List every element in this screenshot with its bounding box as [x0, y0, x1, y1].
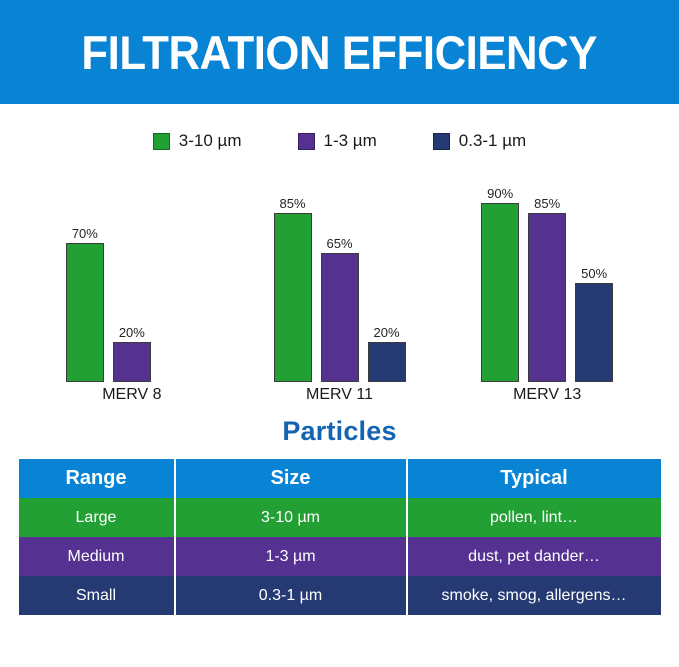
legend-item-3-10um: 3-10 µm	[153, 131, 242, 151]
table-header-row: Range Size Typical	[19, 459, 661, 498]
particles-table: Range Size Typical Large 3-10 µm pollen,…	[19, 459, 661, 615]
bar-value-merv13-0-3-1um: 50%	[581, 267, 607, 280]
bar-value-merv13-3-10um: 90%	[487, 187, 513, 200]
chart-plot-area: 70% 20% 85% 65% 20%	[28, 164, 651, 382]
bar-value-merv13-1-3um: 85%	[534, 197, 560, 210]
bar-value-merv11-3-10um: 85%	[279, 197, 305, 210]
bar-merv13-1-3um	[528, 213, 566, 382]
bar-group-merv-8: 70% 20%	[28, 164, 236, 382]
category-label-merv-8: MERV 8	[28, 386, 236, 404]
bar-slot-merv11-0-3-1um: 20%	[368, 164, 406, 382]
legend-swatch-navy-icon	[433, 133, 450, 150]
bar-slot-merv13-3-10um: 90%	[481, 164, 519, 382]
bar-slot-merv8-1-3um: 20%	[113, 164, 151, 382]
bar-merv11-0-3-1um	[368, 342, 406, 382]
cell-typical-medium: dust, pet dander…	[407, 537, 661, 576]
filtration-efficiency-bar-chart: 70% 20% 85% 65% 20%	[0, 164, 679, 414]
column-header-range: Range	[19, 459, 175, 498]
cell-range-medium: Medium	[19, 537, 175, 576]
bar-slot-merv8-3-10um: 70%	[66, 164, 104, 382]
particles-section-title: Particles	[0, 416, 679, 447]
bar-slot-merv11-1-3um: 65%	[321, 164, 359, 382]
cell-typical-small: smoke, smog, allergens…	[407, 576, 661, 615]
bar-merv11-3-10um	[274, 213, 312, 382]
bar-value-merv11-1-3um: 65%	[326, 237, 352, 250]
bar-slot-merv8-0-3-1um	[160, 164, 198, 382]
cell-size-large: 3-10 µm	[175, 498, 407, 537]
column-header-size: Size	[175, 459, 407, 498]
page-title: FILTRATION EFFICIENCY	[82, 25, 598, 80]
legend-swatch-purple-icon	[298, 133, 315, 150]
bar-value-merv8-3-10um: 70%	[72, 227, 98, 240]
chart-legend: 3-10 µm 1-3 µm 0.3-1 µm	[0, 128, 679, 154]
cell-range-small: Small	[19, 576, 175, 615]
bar-slot-merv13-1-3um: 85%	[528, 164, 566, 382]
cell-range-large: Large	[19, 498, 175, 537]
bar-merv8-1-3um	[113, 342, 151, 382]
legend-swatch-green-icon	[153, 133, 170, 150]
legend-label-1-3um: 1-3 µm	[324, 131, 377, 151]
bar-merv13-3-10um	[481, 203, 519, 382]
cell-size-small: 0.3-1 µm	[175, 576, 407, 615]
table-row: Large 3-10 µm pollen, lint…	[19, 498, 661, 537]
cell-typical-large: pollen, lint…	[407, 498, 661, 537]
column-header-typical: Typical	[407, 459, 661, 498]
cell-size-medium: 1-3 µm	[175, 537, 407, 576]
chart-category-axis: MERV 8 MERV 11 MERV 13	[28, 386, 651, 404]
legend-label-0-3-1um: 0.3-1 µm	[459, 131, 526, 151]
bar-group-merv-11: 85% 65% 20%	[236, 164, 444, 382]
category-label-merv-11: MERV 11	[236, 386, 444, 404]
bar-group-merv-13: 90% 85% 50%	[443, 164, 651, 382]
bar-merv13-0-3-1um	[575, 283, 613, 383]
legend-item-0-3-1um: 0.3-1 µm	[433, 131, 526, 151]
bar-slot-merv13-0-3-1um: 50%	[575, 164, 613, 382]
legend-label-3-10um: 3-10 µm	[179, 131, 242, 151]
header-banner: FILTRATION EFFICIENCY	[0, 0, 679, 104]
category-label-merv-13: MERV 13	[443, 386, 651, 404]
bar-merv8-3-10um	[66, 243, 104, 382]
bar-value-merv11-0-3-1um: 20%	[373, 326, 399, 339]
table-row: Small 0.3-1 µm smoke, smog, allergens…	[19, 576, 661, 615]
bar-value-merv8-1-3um: 20%	[119, 326, 145, 339]
table-row: Medium 1-3 µm dust, pet dander…	[19, 537, 661, 576]
legend-item-1-3um: 1-3 µm	[298, 131, 377, 151]
bar-slot-merv11-3-10um: 85%	[274, 164, 312, 382]
bar-merv11-1-3um	[321, 253, 359, 382]
